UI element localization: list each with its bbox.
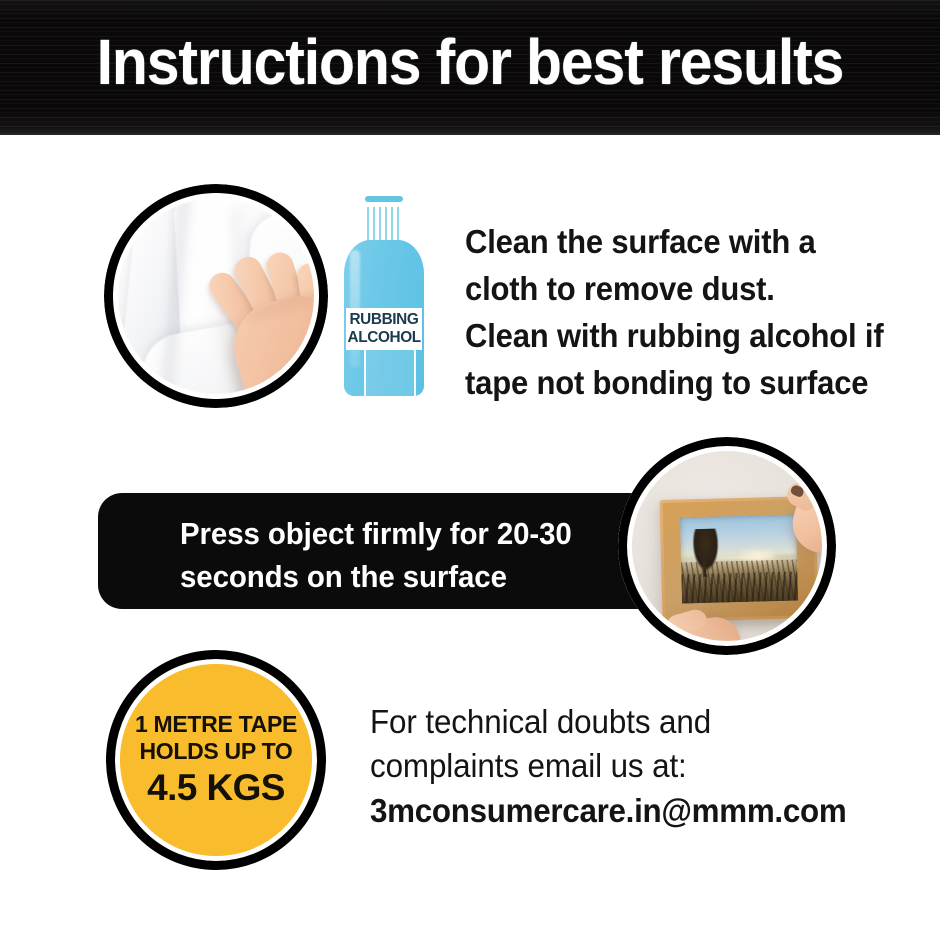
bottle-neck bbox=[367, 207, 401, 241]
bottle-label-line2: ALCOHOL bbox=[347, 329, 420, 347]
step1-line-4: tape not bonding to surface bbox=[465, 359, 841, 406]
contact-email: 3mconsumercare.in@mmm.com bbox=[370, 788, 864, 834]
page-title: Instructions for best results bbox=[38, 26, 903, 98]
step1-photo-clip bbox=[117, 197, 315, 395]
step1-text: Clean the surface with a cloth to remove… bbox=[465, 218, 841, 406]
rubbing-alcohol-bottle-icon: RUBBING ALCOHOL bbox=[338, 196, 430, 396]
badge-line-2: HOLDS UP TO bbox=[139, 738, 292, 765]
hand-upper-illustration bbox=[779, 474, 823, 544]
step2-photo-clip bbox=[631, 450, 823, 642]
hand-lower-illustration bbox=[659, 610, 759, 642]
step2-line-2: seconds on the surface bbox=[180, 555, 627, 598]
step2-line-1: Press object firmly for 20-30 bbox=[180, 512, 627, 555]
step2-photo-circle bbox=[618, 437, 836, 655]
cloth-photo bbox=[117, 197, 315, 395]
badge-weight-value: 4.5 KGS bbox=[147, 767, 285, 809]
frame-on-wall-photo bbox=[631, 450, 823, 642]
step1-photo-circle bbox=[104, 184, 328, 408]
contact-line-1: For technical doubts and bbox=[370, 700, 864, 744]
infographic-root: Instructions for best results bbox=[0, 0, 940, 940]
contact-text: For technical doubts and complaints emai… bbox=[370, 700, 864, 834]
header-banner: Instructions for best results bbox=[0, 0, 940, 135]
step1-line-2: cloth to remove dust. bbox=[465, 265, 841, 312]
weight-capacity-badge: 1 METRE TAPE HOLDS UP TO 4.5 KGS bbox=[106, 650, 326, 870]
step1-line-1: Clean the surface with a bbox=[465, 218, 841, 265]
photo-grass-foreground bbox=[681, 571, 798, 603]
badge-line-1: 1 METRE TAPE bbox=[135, 711, 297, 738]
badge-inner: 1 METRE TAPE HOLDS UP TO 4.5 KGS bbox=[120, 664, 312, 856]
step1-line-3: Clean with rubbing alcohol if bbox=[465, 312, 841, 359]
hand-illustration bbox=[205, 249, 315, 395]
bottle-label-line1: RUBBING bbox=[350, 311, 419, 329]
step2-text: Press object firmly for 20-30 seconds on… bbox=[180, 512, 627, 598]
contact-line-2: complaints email us at: bbox=[370, 744, 864, 788]
bottle-label-band: RUBBING ALCOHOL bbox=[346, 308, 422, 350]
photo-tree-trunk bbox=[703, 555, 707, 577]
bottle-cap bbox=[365, 196, 403, 202]
